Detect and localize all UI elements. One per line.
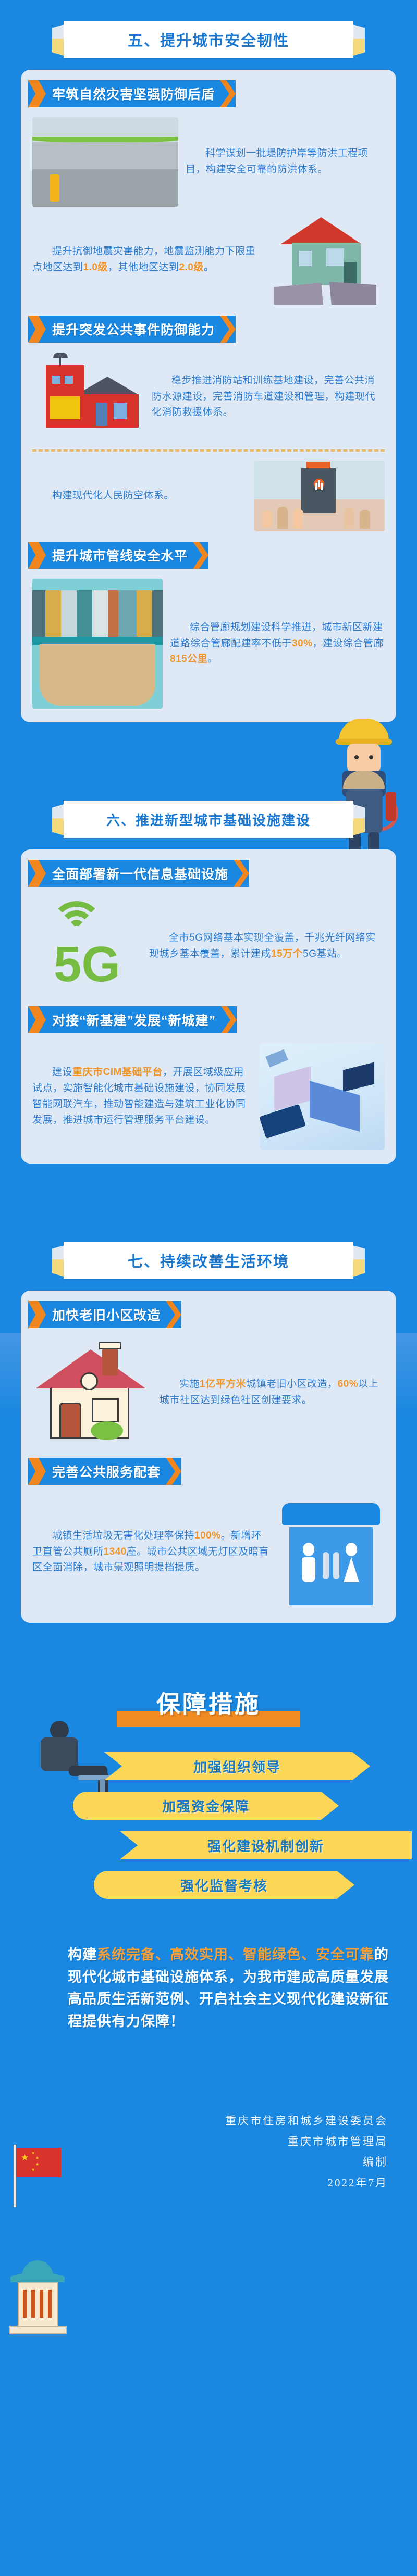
- section-7-card: 加快老旧小区改造 实施1亿平方米城镇老旧小区改造，60%以上城市社区达到绿色社区…: [21, 1291, 396, 1623]
- civil-defense-row: 构建现代化人民防空体系。: [21, 454, 396, 531]
- subhead-label: 加快老旧小区改造: [46, 1305, 166, 1324]
- subhead-label: 全面部署新一代信息基础设施: [46, 864, 234, 883]
- flood-defense-row: 科学谋划一批堤防护岸等防洪工程项目，构建安全可靠的防洪体系。: [21, 110, 396, 207]
- underground-pipeline-illustration: [32, 579, 163, 709]
- measure-label: 强化监督考核: [94, 1875, 354, 1895]
- subhead-flood-defense: 牢筑自然灾害坚强防御后盾: [28, 80, 236, 107]
- section-title-7: 七、持续改善生活环境: [52, 1242, 365, 1279]
- section-banner-5: 五、提升城市安全韧性: [52, 21, 365, 58]
- footer-line: 重庆市住房和城乡建设委员会: [0, 2111, 388, 2132]
- cim-row: 建设重庆市CIM基础平台，开展区域级应用试点，实施智能化城市基础设施建设，协同发…: [21, 1036, 396, 1150]
- measure-label: 强化建设机制创新: [120, 1836, 412, 1855]
- earthquake-house-illustration: [265, 214, 385, 305]
- chevron-right-icon: [193, 542, 208, 569]
- old-neighborhood-text: 实施1亿平方米城镇老旧小区改造，60%以上城市社区达到绿色社区创建要求。: [160, 1377, 385, 1409]
- closing-statement: 构建系统完备、高效实用、智能绿色、安全可靠的现代化城市基础设施体系，为我市建成高…: [68, 1944, 395, 2033]
- subhead-public-services: 完善公共服务配套: [28, 1458, 181, 1485]
- measure-item[interactable]: 加强资金保障: [73, 1792, 339, 1820]
- pipeline-text: 综合管廊规划建设科学推进，城市新区新建道路综合管廊配建率不低于30%，建设综合管…: [170, 620, 385, 668]
- subhead-label: 提升突发公共事件防御能力: [46, 320, 220, 339]
- infographic-page: 五、提升城市安全韧性 牢筑自然灾害坚强防御后盾 科学谋划一批堤防护岸等防洪工程项…: [0, 0, 417, 2576]
- dashed-divider: [32, 449, 385, 452]
- levee-worker-illustration: [32, 117, 178, 207]
- measure-label: 加强资金保障: [73, 1796, 339, 1816]
- subhead-old-neighborhood: 加快老旧小区改造: [28, 1301, 181, 1328]
- section-6-card: 全面部署新一代信息基础设施 5G 全市5G网络基本实现全覆盖，千兆光纤网络实现城…: [21, 849, 396, 1164]
- guarantee-title: 保障措施: [156, 1685, 261, 1720]
- subhead-info-infrastructure: 全面部署新一代信息基础设施: [28, 860, 249, 887]
- guarantee-section: 保障措施: [0, 1685, 417, 1729]
- fire-station-row: 稳步推进消防站和训练基地建设，完善公共消防水源建设，完善消防车道建设和管理，构建…: [21, 345, 396, 441]
- wifi-waves-icon: [48, 901, 105, 937]
- subhead-label: 完善公共服务配套: [46, 1462, 166, 1481]
- measure-label: 加强组织领导: [104, 1757, 370, 1776]
- fire-station-text: 稳步推进消防站和训练基地建设，完善公共消防水源建设，完善消防车道建设和管理，构建…: [152, 373, 385, 421]
- section-title-5: 五、提升城市安全韧性: [52, 21, 365, 58]
- civil-defense-crowd-illustration: [254, 461, 385, 531]
- great-hall-building-icon: [6, 2260, 72, 2339]
- cim-text: 建设重庆市CIM基础平台，开展区域级应用试点，实施智能化城市基础设施建设，协同发…: [32, 1065, 252, 1129]
- top-spacer: [0, 0, 417, 21]
- public-toilet-illustration: [278, 1495, 385, 1609]
- civil-defense-text: 构建现代化人民防空体系。: [32, 488, 247, 504]
- chevron-right-icon: [166, 1301, 181, 1328]
- chevron-right-icon: [28, 80, 46, 107]
- subhead-emergency-defense: 提升突发公共事件防御能力: [28, 316, 236, 343]
- chevron-right-icon: [28, 542, 46, 569]
- chevron-right-icon: [220, 80, 236, 107]
- measure-item[interactable]: 强化监督考核: [94, 1871, 354, 1899]
- section-banner-6: 六、推进新型城市基础设施建设: [52, 801, 365, 838]
- public-services-row: 城镇生活垃圾无害化处理率保持100%。新增环卫直管公共厕所1340座。城市公共区…: [21, 1487, 396, 1609]
- chevron-right-icon: [220, 316, 236, 343]
- subhead-label: 对接“新基建”发展“新城建”: [46, 1010, 221, 1029]
- measure-item[interactable]: 加强组织领导: [104, 1752, 370, 1780]
- chevron-right-icon: [28, 1006, 46, 1033]
- chinese-flag-icon: ★★★ ★★: [9, 2145, 67, 2207]
- old-neighborhood-house-illustration: [32, 1338, 152, 1447]
- subhead-label: 提升城市管线安全水平: [46, 546, 193, 565]
- subhead-new-infrastructure: 对接“新基建”发展“新城建”: [28, 1006, 237, 1033]
- chevron-right-icon: [221, 1006, 237, 1033]
- earthquake-text: 提升抗御地震灾害能力，地震监测能力下限重点地区达到1.0级，其他地区达到2.0级…: [32, 244, 257, 276]
- measure-item[interactable]: 强化建设机制创新: [120, 1831, 412, 1859]
- chevron-right-icon: [28, 860, 46, 887]
- earthquake-row: 提升抗御地震灾害能力，地震监测能力下限重点地区达到1.0级，其他地区达到2.0级…: [21, 207, 396, 305]
- cim-platform-illustration: [260, 1043, 385, 1150]
- chevron-right-icon: [28, 316, 46, 343]
- 5g-signal-illustration: 5G: [32, 897, 142, 996]
- old-neighborhood-row: 实施1亿平方米城镇老旧小区改造，60%以上城市社区达到绿色社区创建要求。: [21, 1331, 396, 1447]
- public-services-text: 城镇生活垃圾无害化处理率保持100%。新增环卫直管公共厕所1340座。城市公共区…: [32, 1528, 271, 1576]
- chevron-right-icon: [166, 1458, 181, 1485]
- section-banner-7: 七、持续改善生活环境: [52, 1242, 365, 1279]
- pipeline-row: 综合管廊规划建设科学推进，城市新区新建道路综合管廊配建率不低于30%，建设综合管…: [21, 571, 396, 709]
- chevron-right-icon: [28, 1458, 46, 1485]
- section-title-6: 六、推进新型城市基础设施建设: [52, 801, 365, 838]
- section-5-card: 牢筑自然灾害坚强防御后盾 科学谋划一批堤防护岸等防洪工程项目，构建安全可靠的防洪…: [21, 70, 396, 722]
- chevron-right-icon: [234, 860, 249, 887]
- subhead-label: 牢筑自然灾害坚强防御后盾: [46, 84, 220, 103]
- section-gap: [0, 1164, 417, 1210]
- flood-defense-text: 科学谋划一批堤防护岸等防洪工程项目，构建安全可靠的防洪体系。: [186, 146, 385, 178]
- 5g-row: 5G 全市5G网络基本实现全覆盖，千兆光纤网络实现城乡基本覆盖，累计建成15万个…: [21, 890, 396, 996]
- subhead-pipeline-safety: 提升城市管线安全水平: [28, 542, 208, 569]
- 5g-text: 全市5G网络基本实现全覆盖，千兆光纤网络实现城乡基本覆盖，累计建成15万个5G基…: [149, 930, 385, 962]
- chevron-right-icon: [28, 1301, 46, 1328]
- fire-station-illustration: [32, 353, 144, 441]
